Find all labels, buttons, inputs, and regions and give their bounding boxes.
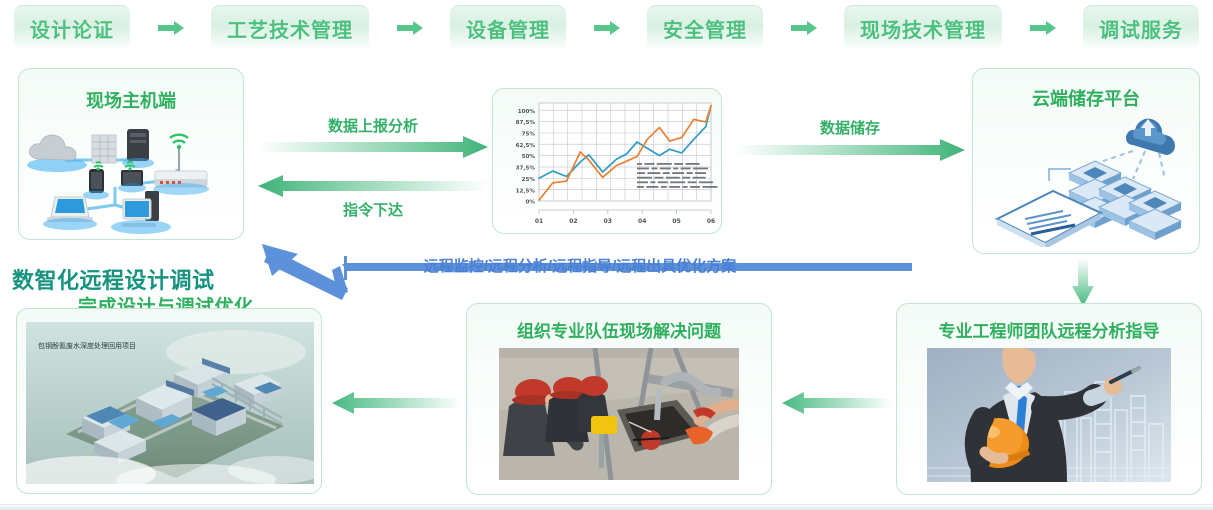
cloud-servers-illustration bbox=[983, 99, 1191, 247]
panel-remote-experts[interactable]: 专业工程师团队远程分析指导 bbox=[896, 303, 1202, 495]
diagram-canvas: 设计论证 工艺技术管理 设备管理 安全管理 现场技术管理 调 bbox=[0, 0, 1213, 510]
panel-host-terminal[interactable]: 现场主机端 bbox=[18, 68, 244, 240]
process-step-label: 调试服务 bbox=[1099, 14, 1183, 43]
process-step-bar: 设计论证 工艺技术管理 设备管理 安全管理 现场技术管理 调 bbox=[0, 0, 1213, 56]
flow-arrow-team-to-result bbox=[332, 392, 462, 414]
footer-divider bbox=[0, 504, 1213, 510]
right-arrow-icon bbox=[592, 18, 622, 38]
svg-text:75%: 75% bbox=[522, 132, 536, 138]
industrial-plant-rendering: 包钢酚氰废水深度处理回用项目 bbox=[26, 322, 314, 484]
svg-text:02: 02 bbox=[569, 218, 577, 225]
network-devices-illustration bbox=[27, 113, 237, 235]
process-step-1[interactable]: 设计论证 bbox=[14, 5, 130, 51]
right-arrow-icon bbox=[1028, 18, 1058, 38]
svg-text:37,5%: 37,5% bbox=[516, 166, 536, 172]
process-step-label: 设计论证 bbox=[30, 14, 114, 43]
flow-label-command-down: 指令下达 bbox=[258, 199, 488, 220]
svg-text:包钢酚氰废水深度处理回用项目: 包钢酚氰废水深度处理回用项目 bbox=[38, 341, 136, 350]
flow-arrow-cloud-to-engineer bbox=[1072, 258, 1094, 306]
flow-arrow-command-down bbox=[258, 175, 488, 197]
flow-label-data-upload: 数据上报分析 bbox=[258, 115, 488, 136]
svg-text:04: 04 bbox=[638, 218, 646, 225]
process-step-6[interactable]: 调试服务 bbox=[1083, 5, 1199, 51]
svg-text:01: 01 bbox=[535, 218, 543, 225]
panel-host-terminal-title: 现场主机端 bbox=[19, 87, 243, 113]
workers-at-manhole-photo bbox=[499, 348, 739, 480]
process-step-label: 现场技术管理 bbox=[860, 14, 986, 43]
right-arrow-icon bbox=[789, 18, 819, 38]
flow-label-remote-services: 远程监控/远程分析/远程指导/远程出具优化方案 bbox=[370, 255, 790, 276]
panel-onsite-team-title: 组织专业队伍现场解决问题 bbox=[467, 317, 771, 342]
process-step-label: 工艺技术管理 bbox=[227, 14, 353, 43]
right-arrow-icon bbox=[156, 18, 186, 38]
svg-text:62,5%: 62,5% bbox=[516, 143, 536, 149]
svg-text:03: 03 bbox=[604, 218, 612, 225]
right-arrow-icon bbox=[395, 18, 425, 38]
svg-text:0%: 0% bbox=[526, 200, 536, 206]
svg-text:25%: 25% bbox=[522, 177, 536, 183]
process-step-3[interactable]: 设备管理 bbox=[450, 5, 566, 51]
panel-cloud-platform[interactable]: 云端储存平台 bbox=[972, 68, 1200, 254]
headline-main: 数智化远程设计调试 bbox=[12, 263, 215, 295]
svg-text:05: 05 bbox=[672, 218, 680, 225]
panel-remote-experts-title: 专业工程师团队远程分析指导 bbox=[897, 317, 1201, 342]
svg-text:87,5%: 87,5% bbox=[516, 120, 536, 126]
svg-text:06: 06 bbox=[707, 218, 715, 225]
panel-chart[interactable]: 0%12,5%25%37,5%50%62,5%75%87,5%100%01020… bbox=[492, 88, 722, 234]
flow-arrow-data-storage bbox=[735, 139, 965, 161]
engineer-with-helmet-photo bbox=[927, 348, 1171, 482]
flow-arrow-engineer-to-team bbox=[782, 392, 892, 414]
panel-result[interactable]: 包钢酚氰废水深度处理回用项目 bbox=[16, 308, 322, 494]
process-step-label: 设备管理 bbox=[466, 14, 550, 43]
line-chart-illustration: 0%12,5%25%37,5%50%62,5%75%87,5%100%01020… bbox=[493, 89, 723, 235]
process-step-label: 安全管理 bbox=[663, 14, 747, 43]
process-step-2[interactable]: 工艺技术管理 bbox=[211, 5, 369, 51]
process-step-5[interactable]: 现场技术管理 bbox=[844, 5, 1002, 51]
panel-onsite-team[interactable]: 组织专业队伍现场解决问题 bbox=[466, 303, 772, 495]
flow-label-data-storage: 数据储存 bbox=[735, 117, 965, 138]
svg-text:100%: 100% bbox=[518, 109, 536, 115]
process-step-4[interactable]: 安全管理 bbox=[647, 5, 763, 51]
svg-text:50%: 50% bbox=[522, 154, 536, 160]
svg-text:12,5%: 12,5% bbox=[516, 188, 536, 194]
flow-arrow-data-upload bbox=[258, 136, 488, 158]
